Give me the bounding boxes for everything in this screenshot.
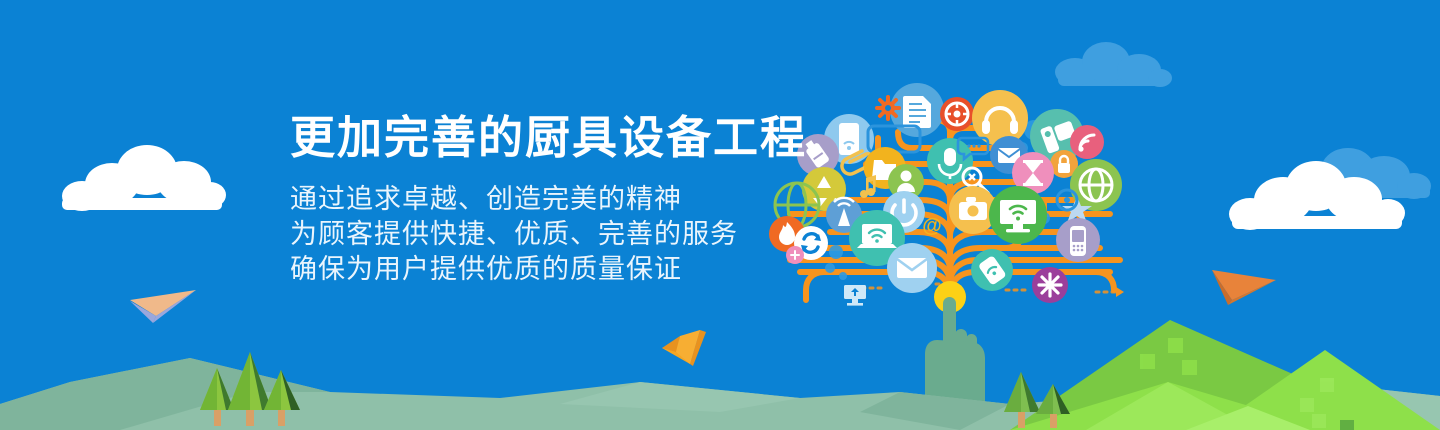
hero-copy: 更加完善的厨具设备工程 通过追求卓越、创造完美的精神 为顾客提供快捷、优质、完善… xyxy=(290,112,760,287)
subtitle-line-2: 为顾客提供快捷、优质、完善的服务 xyxy=(290,217,760,252)
mountain-right-group xyxy=(1010,320,1440,430)
hero-subtitle: 通过追求卓越、创造完美的精神 为顾客提供快捷、优质、完善的服务 确保为用户提供优… xyxy=(290,182,760,287)
subtitle-line-3: 确保为用户提供优质的质量保证 xyxy=(290,252,760,287)
pine-tree-cluster-left xyxy=(200,352,300,426)
subtitle-line-1: 通过追求卓越、创造完美的精神 xyxy=(290,182,760,217)
hero-banner: @ xyxy=(0,0,1440,430)
page-title: 更加完善的厨具设备工程 xyxy=(290,112,760,164)
